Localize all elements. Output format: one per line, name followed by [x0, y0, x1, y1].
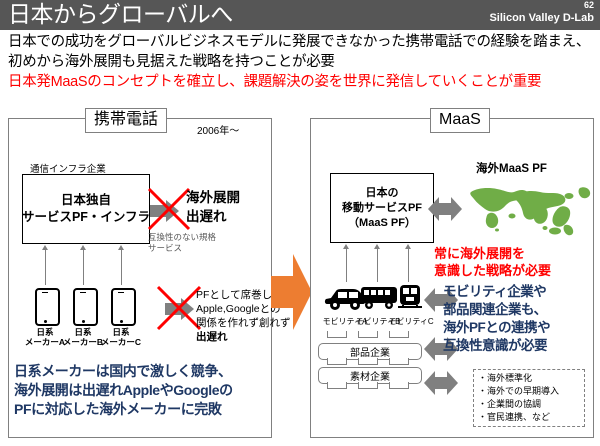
- phone-label-c-line1: 日系: [93, 327, 149, 337]
- connector-line-phone-b: [83, 249, 84, 285]
- slide-root: 日本からグローバルへ 62 Silicon Valley D-Lab 日本での成…: [0, 0, 600, 446]
- right-note-line-2: 部品関連企業も、: [443, 301, 550, 319]
- right-note-line-3: 海外PFとの連携や: [443, 319, 550, 337]
- left-panel-year: 2006年～: [197, 122, 239, 137]
- connector-line-phone-c: [121, 249, 122, 285]
- checklist-item-1: ・海外標準化: [478, 372, 584, 385]
- comb-tab-3: [389, 331, 409, 338]
- connector-head-mobility-a-icon: [343, 244, 349, 249]
- train-icon: [396, 284, 424, 316]
- right-note-line-1: モビリティ企業や: [443, 283, 550, 301]
- comb-tab-5: [358, 358, 378, 365]
- checklist-box: ・海外標準化 ・海外での早期導入 ・企業間の協調 ・官民連携、など: [473, 369, 585, 427]
- left-conclusion-line-3: PFに対応した海外メーカーに完敗: [14, 400, 233, 419]
- mobility-label-c: モビリティC: [386, 317, 436, 327]
- panel-left-caption: 携帯電話: [85, 108, 167, 133]
- connector-line-mobility-b: [377, 248, 378, 282]
- left-conclusion-line-1: 日系メーカーは国内で激しく競争、: [14, 362, 233, 381]
- maas-box-line-3: （MaaS PF）: [348, 216, 416, 231]
- incompatible-standard-note: 互換性のない規格 サービス: [148, 232, 216, 254]
- phone-icon-b: [73, 288, 98, 326]
- incompatible-note-line-2: サービス: [148, 243, 216, 254]
- connector-line-phone-a: [45, 249, 46, 285]
- page-title: 日本からグローバルへ: [8, 0, 233, 29]
- comb-tab-6: [389, 358, 409, 365]
- incompatible-note-line-1: 互換性のない規格: [148, 232, 216, 243]
- lead-line-2: 初めから海外展開も見据えた戦略を持つことが必要: [8, 52, 596, 72]
- bidir-arrow-material: [424, 368, 458, 398]
- connector-head-phone-b-icon: [80, 245, 86, 250]
- phone-label-c: 日系 メーカーC: [93, 327, 149, 347]
- comb-tab-7: [327, 382, 347, 389]
- comb-tab-1: [327, 331, 347, 338]
- connector-line-mobility-c: [408, 248, 409, 282]
- maas-box-line-2: 移動サービスPF: [342, 201, 422, 216]
- red-note-line-1: 常に海外展開を: [434, 245, 551, 262]
- checklist-item-3: ・企業間の協調: [478, 398, 584, 411]
- overseas-delay-text: 海外展開 出遅れ: [186, 188, 240, 226]
- connector-head-mobility-c-icon: [405, 244, 411, 249]
- connector-line-mobility-a: [346, 248, 347, 282]
- right-note-line-4: 互換性意識が必要: [443, 337, 550, 355]
- comb-tab-4: [327, 358, 347, 365]
- transition-arrow-icon: [271, 252, 313, 337]
- phone-label-c-line2: メーカーC: [93, 337, 149, 347]
- overseas-maas-pf-label: 海外MaaS PF: [476, 160, 547, 176]
- brand-label: Silicon Valley D-Lab: [489, 10, 594, 26]
- left-conclusion-line-2: 海外展開は出遅れAppleやGoogleの: [14, 381, 233, 400]
- lead-line-3-highlight: 日本発MaaSのコンセプトを確立し、課題解決の姿を世界に発信していくことが重要: [8, 72, 596, 92]
- overseas-delay-line-1: 海外展開: [186, 188, 240, 207]
- right-note-text: モビリティ企業や 部品関連企業も、 海外PFとの連携や 互換性意識が必要: [443, 283, 550, 355]
- comb-tab-8: [358, 382, 378, 389]
- maas-box-line-1: 日本の: [366, 186, 399, 201]
- phone-icon-c: [111, 288, 136, 326]
- connector-head-mobility-b-icon: [374, 244, 380, 249]
- phone-icon-a: [35, 288, 60, 326]
- infra-company-label: 通信インフラ企業: [30, 161, 106, 175]
- checklist-item-2: ・海外での早期導入: [478, 385, 584, 398]
- comb-tab-2: [358, 331, 378, 338]
- bidir-arrow-global: [428, 192, 462, 226]
- lead-paragraph: 日本での成功をグローバルビジネスモデルに発展できなかった携帯電話での経験を踏まえ…: [8, 32, 596, 92]
- lead-line-1: 日本での成功をグローバルビジネスモデルに発展できなかった携帯電話での経験を踏まえ…: [8, 32, 596, 52]
- overseas-delay-line-2: 出遅れ: [186, 207, 240, 226]
- infra-box-line-2: サービスPF・インフラ: [22, 209, 150, 226]
- box-japan-original-pf: 日本独自 サービスPF・インフラ: [22, 174, 150, 244]
- panel-right-caption: MaaS: [430, 108, 490, 133]
- box-japan-maas-pf: 日本の 移動サービスPF （MaaS PF）: [330, 173, 434, 243]
- red-strategy-note: 常に海外展開を 意識した戦略が必要: [434, 245, 551, 279]
- comb-tab-9: [389, 382, 409, 389]
- bus-icon: [359, 285, 399, 315]
- infra-box-line-1: 日本独自: [61, 192, 111, 209]
- connector-head-phone-c-icon: [118, 245, 124, 250]
- left-conclusion-text: 日系メーカーは国内で激しく競争、 海外展開は出遅れAppleやGoogleの P…: [14, 362, 233, 419]
- world-map-icon: [462, 177, 594, 239]
- red-note-line-2: 意識した戦略が必要: [434, 262, 551, 279]
- checklist-item-4: ・官民連携、など: [478, 411, 584, 424]
- connector-head-phone-a-icon: [42, 245, 48, 250]
